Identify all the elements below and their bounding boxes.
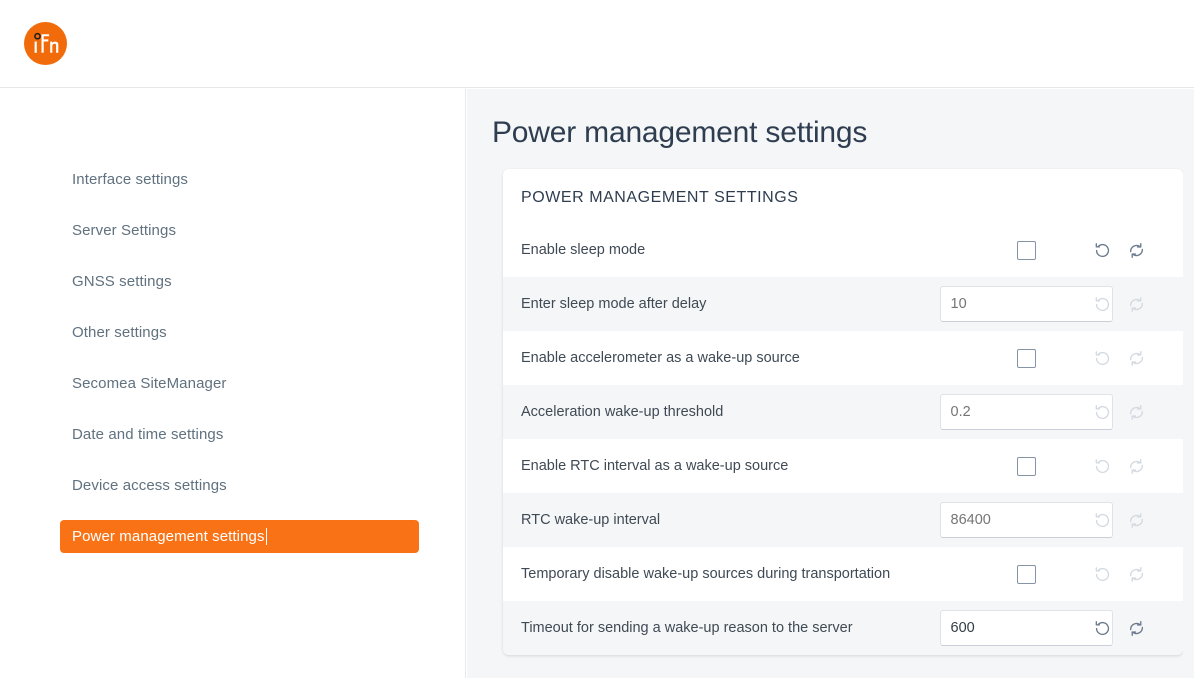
setting-label: RTC wake-up interval [521,510,971,530]
settings-row-enable-accelerometer-wake-up: Enable accelerometer as a wake-up source [503,331,1183,385]
sidebar-item-secomea-sitemanager[interactable]: Secomea SiteManager [60,367,419,400]
setting-control [971,610,1081,646]
enable-sleep-mode-checkbox[interactable] [1017,241,1036,260]
sidebar: Interface settings Server Settings GNSS … [0,89,466,678]
main-content: Power management settings POWER MANAGEME… [467,89,1194,678]
sidebar-item-label: Interface settings [72,171,188,188]
page-title: Power management settings [492,116,867,150]
setting-label: Enable sleep mode [521,240,971,260]
ifm-logo[interactable] [24,22,67,65]
setting-control [971,457,1081,476]
settings-row-enable-sleep-mode: Enable sleep mode [503,223,1183,277]
sync-icon [1127,349,1146,368]
settings-row-acceleration-wake-up-threshold: Acceleration wake-up threshold [503,385,1183,439]
setting-label: Temporary disable wake-up sources during… [521,564,971,584]
row-actions [1081,565,1165,584]
setting-label: Enter sleep mode after delay [521,294,971,314]
sidebar-item-label: Secomea SiteManager [72,375,227,392]
sync-icon [1127,565,1146,584]
reset-icon [1093,403,1112,422]
reset-icon[interactable] [1093,241,1112,260]
sidebar-item-label: Other settings [72,324,167,341]
settings-card: POWER MANAGEMENT SETTINGS Enable sleep m… [503,169,1183,655]
app-window: Interface settings Server Settings GNSS … [0,0,1194,678]
row-actions [1081,241,1165,260]
sidebar-item-device-access-settings[interactable]: Device access settings [60,469,419,502]
sidebar-item-interface-settings[interactable]: Interface settings [60,163,419,196]
sidebar-item-server-settings[interactable]: Server Settings [60,214,419,247]
sidebar-item-label: GNSS settings [72,273,172,290]
sync-icon [1127,457,1146,476]
settings-row-rtc-wake-up-interval: RTC wake-up interval [503,493,1183,547]
sidebar-item-gnss-settings[interactable]: GNSS settings [60,265,419,298]
reset-icon [1093,295,1112,314]
sidebar-item-other-settings[interactable]: Other settings [60,316,419,349]
enable-rtc-interval-wake-up-checkbox[interactable] [1017,457,1036,476]
row-actions [1081,403,1165,422]
setting-control [971,349,1081,368]
sync-icon[interactable] [1127,241,1146,260]
setting-label: Acceleration wake-up threshold [521,402,971,422]
card-header-title: POWER MANAGEMENT SETTINGS [503,169,1183,223]
row-actions [1081,511,1165,530]
reset-icon [1093,457,1112,476]
row-actions [1081,457,1165,476]
sidebar-item-label: Device access settings [72,477,227,494]
sync-icon [1127,511,1146,530]
sidebar-nav: Interface settings Server Settings GNSS … [0,163,466,571]
settings-row-enter-sleep-mode-after-delay: Enter sleep mode after delay [503,277,1183,331]
sync-icon [1127,295,1146,314]
row-actions [1081,295,1165,314]
setting-label: Timeout for sending a wake-up reason to … [521,618,971,638]
row-actions [1081,619,1165,638]
sync-icon [1127,403,1146,422]
sidebar-item-label: Power management settings [72,528,265,545]
reset-icon [1093,511,1112,530]
enable-accelerometer-wake-up-checkbox[interactable] [1017,349,1036,368]
reset-icon [1093,349,1112,368]
setting-control [971,565,1081,584]
settings-row-enable-rtc-interval-wake-up: Enable RTC interval as a wake-up source [503,439,1183,493]
sidebar-item-label: Server Settings [72,222,176,239]
sidebar-item-label: Date and time settings [72,426,223,443]
setting-control [971,394,1081,430]
top-header-bar [0,0,1194,88]
setting-label: Enable RTC interval as a wake-up source [521,456,971,476]
sidebar-item-date-and-time-settings[interactable]: Date and time settings [60,418,419,451]
setting-label: Enable accelerometer as a wake-up source [521,348,971,368]
setting-control [971,286,1081,322]
setting-control [971,502,1081,538]
settings-row-temporary-disable-wake-up-sources: Temporary disable wake-up sources during… [503,547,1183,601]
sync-icon[interactable] [1127,619,1146,638]
settings-row-timeout-wake-up-reason: Timeout for sending a wake-up reason to … [503,601,1183,655]
row-actions [1081,349,1165,368]
text-cursor [266,528,267,545]
reset-icon [1093,565,1112,584]
reset-icon[interactable] [1093,619,1112,638]
sidebar-item-power-management-settings[interactable]: Power management settings [60,520,419,553]
setting-control [971,241,1081,260]
temporary-disable-wake-up-sources-checkbox[interactable] [1017,565,1036,584]
